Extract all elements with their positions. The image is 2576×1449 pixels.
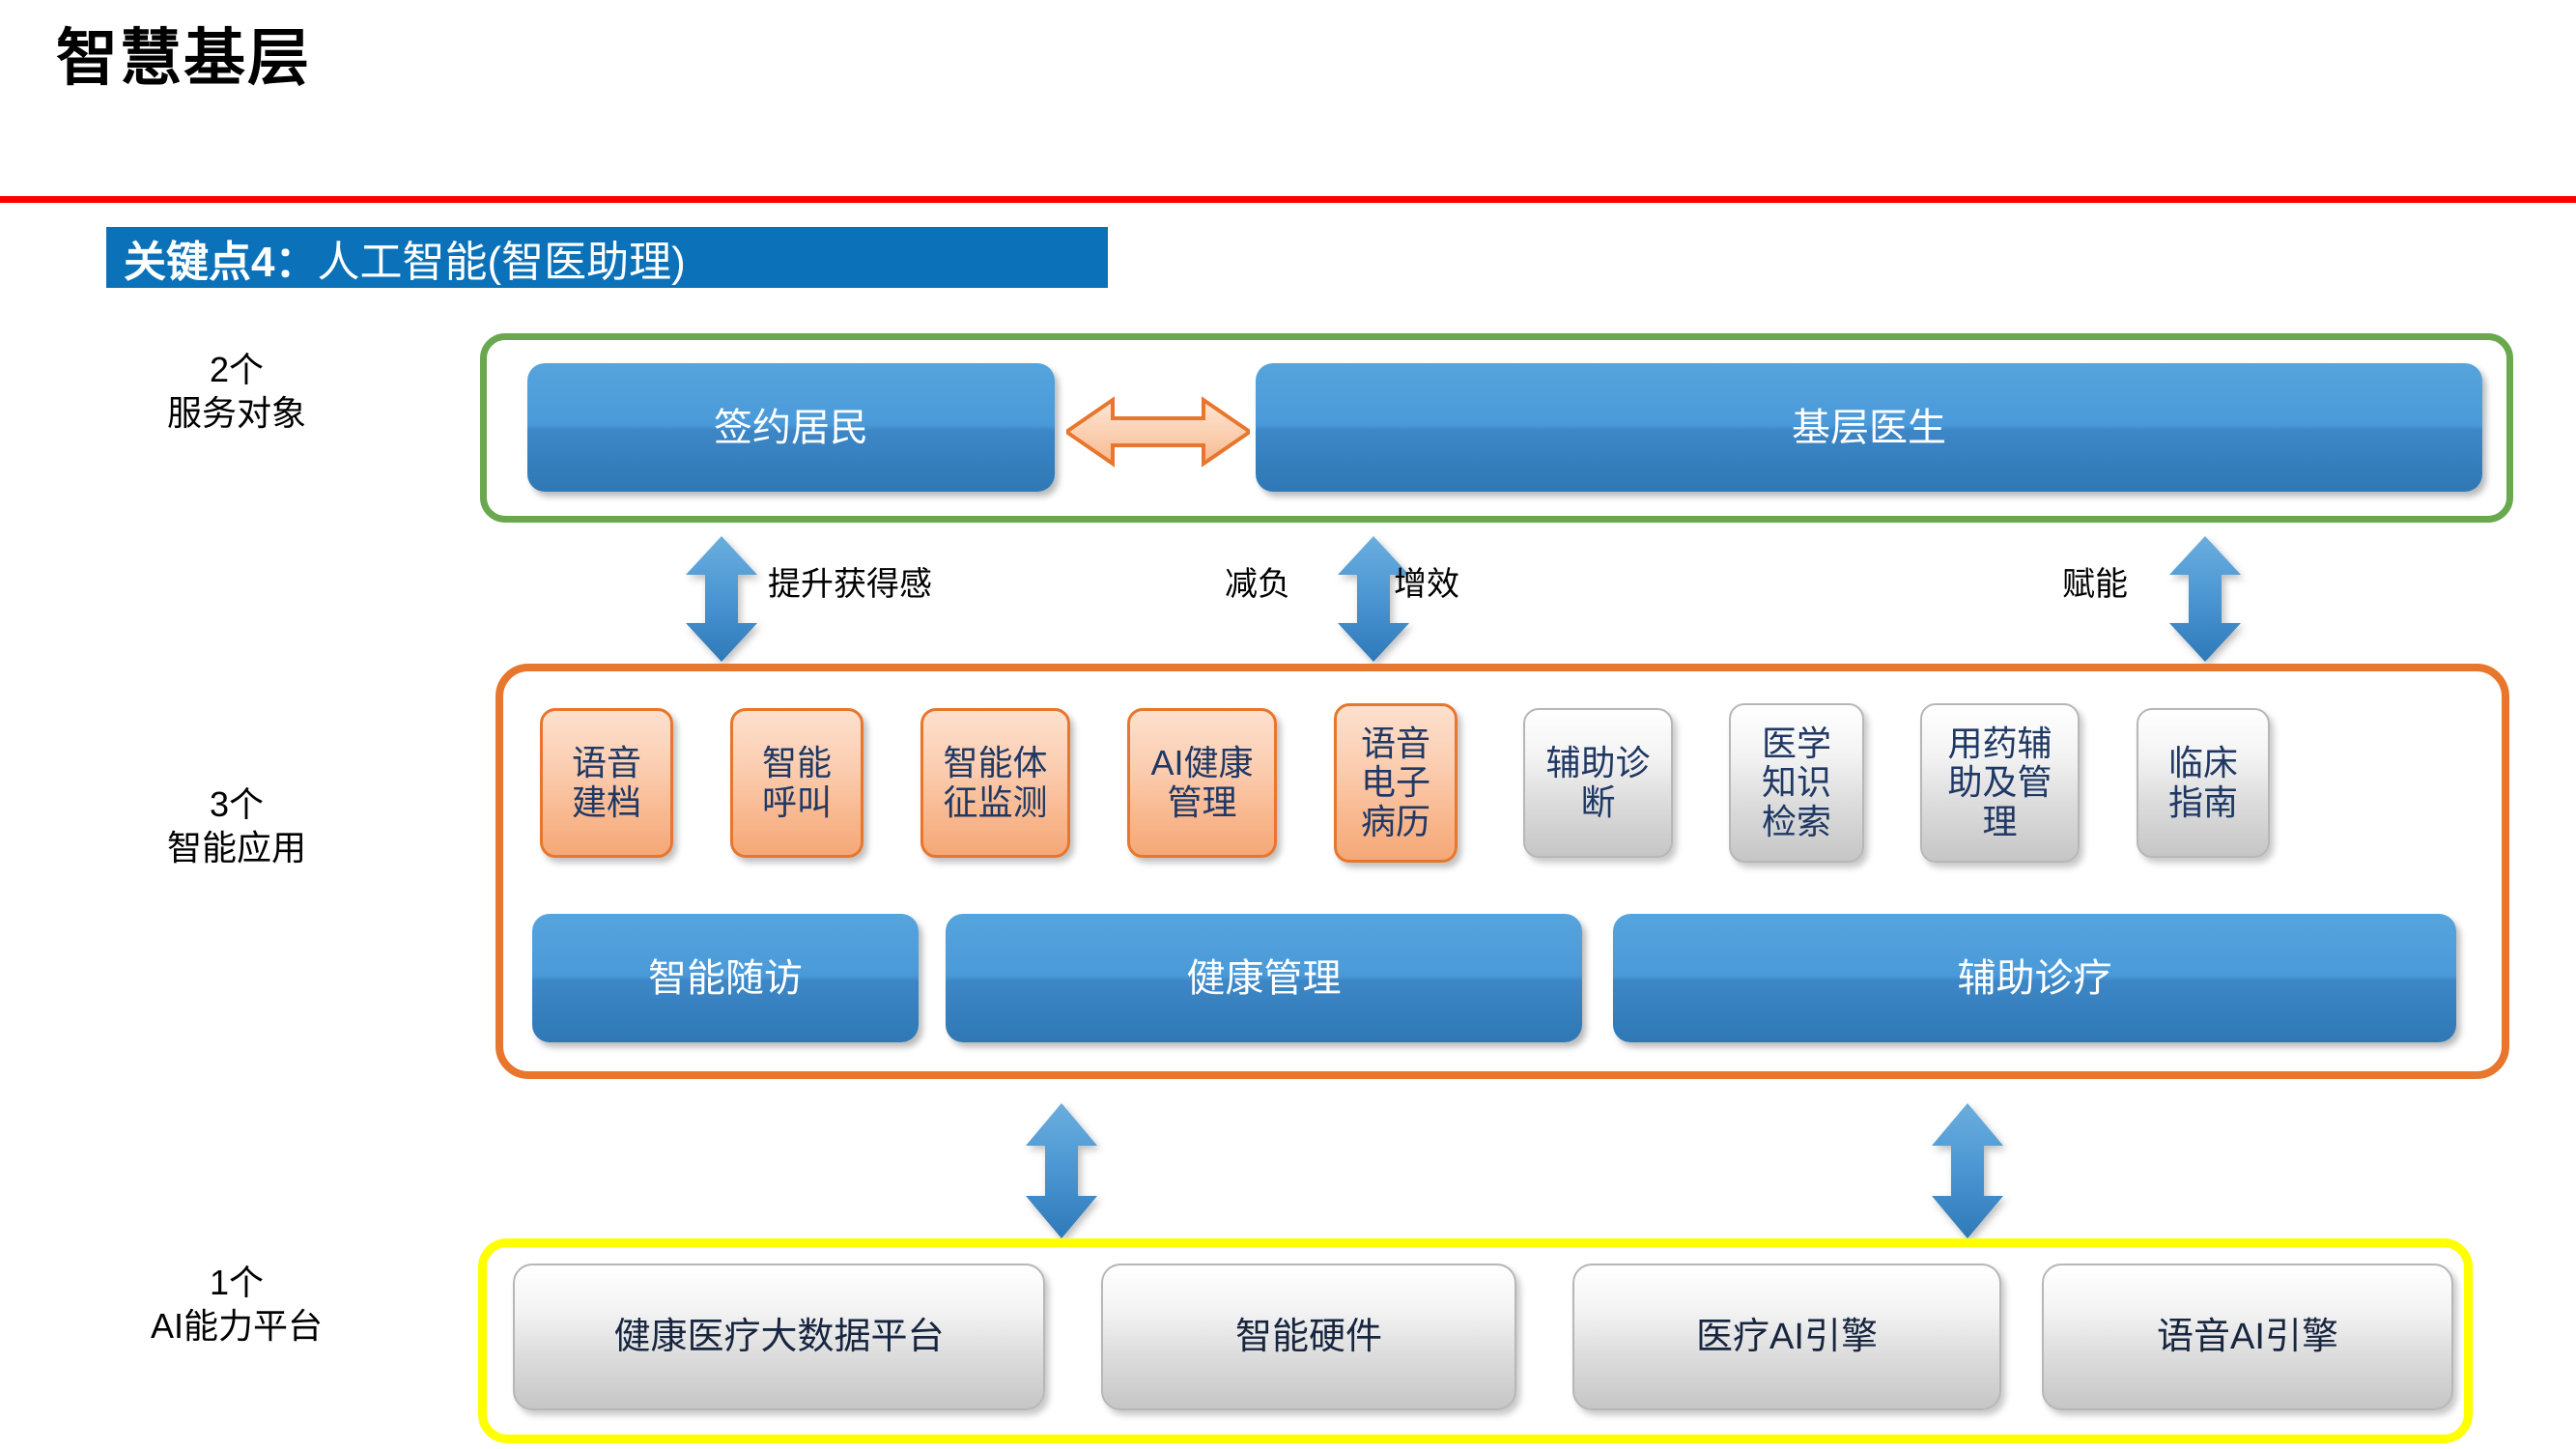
service-object-box-resident[interactable]: 签约居民 (527, 363, 1055, 492)
page-title: 智慧基层 (56, 27, 311, 89)
app-chip-medication-assistance[interactable]: 用药辅 助及管 理 (1920, 703, 2080, 863)
app-group-health-management[interactable]: 健康管理 (946, 914, 1582, 1042)
arrow-label-empower: 赋能 (2062, 557, 2128, 605)
app-chip-smart-call[interactable]: 智能 呼叫 (730, 708, 863, 858)
side-label-smart-apps: 3个 智能应用 (77, 782, 396, 869)
key-point-label: 关键点4： (124, 227, 317, 289)
platform-box-big-data[interactable]: 健康医疗大数据平台 (513, 1264, 1045, 1410)
app-chip-vitals-monitoring[interactable]: 智能体 征监测 (920, 708, 1070, 858)
app-chip-voice-emr[interactable]: 语音 电子 病历 (1334, 703, 1458, 863)
up-down-arrow-icon-platform-left (1026, 1103, 1097, 1238)
key-point-topic: 人工智能(智医助理) (317, 227, 685, 289)
red-divider-rule (0, 196, 2576, 203)
arrow-label-boost-efficiency: 增效 (1394, 557, 1459, 605)
arrow-label-reduce-burden: 减负 (1225, 557, 1290, 605)
up-down-arrow-icon-resident (686, 536, 757, 662)
app-chip-assisted-diagnosis[interactable]: 辅助诊 断 (1523, 708, 1673, 858)
platform-box-smart-hardware[interactable]: 智能硬件 (1101, 1264, 1516, 1410)
app-chip-clinical-guidelines[interactable]: 临床 指南 (2137, 708, 2270, 858)
app-chip-ai-health-management[interactable]: AI健康 管理 (1127, 708, 1277, 858)
service-object-box-doctor[interactable]: 基层医生 (1256, 363, 2482, 492)
app-group-smart-followup[interactable]: 智能随访 (532, 914, 919, 1042)
up-down-arrow-icon-platform-right (1932, 1103, 2003, 1238)
key-point-banner: 关键点4： 人工智能(智医助理) (106, 227, 1108, 288)
app-group-assisted-care[interactable]: 辅助诊疗 (1613, 914, 2456, 1042)
app-chip-voice-record[interactable]: 语音 建档 (540, 708, 673, 858)
side-label-ai-platform: 1个 AI能力平台 (77, 1261, 396, 1348)
arrow-label-improve-gain: 提升获得感 (768, 557, 932, 605)
platform-box-medical-ai-engine[interactable]: 医疗AI引擎 (1572, 1264, 2001, 1410)
platform-box-voice-ai-engine[interactable]: 语音AI引擎 (2042, 1264, 2453, 1410)
up-down-arrow-icon-empower (2169, 536, 2241, 662)
bidirectional-arrow-icon (1066, 396, 1250, 468)
side-label-service-objects: 2个 服务对象 (77, 348, 396, 435)
app-chip-medical-knowledge-search[interactable]: 医学 知识 检索 (1729, 703, 1864, 863)
